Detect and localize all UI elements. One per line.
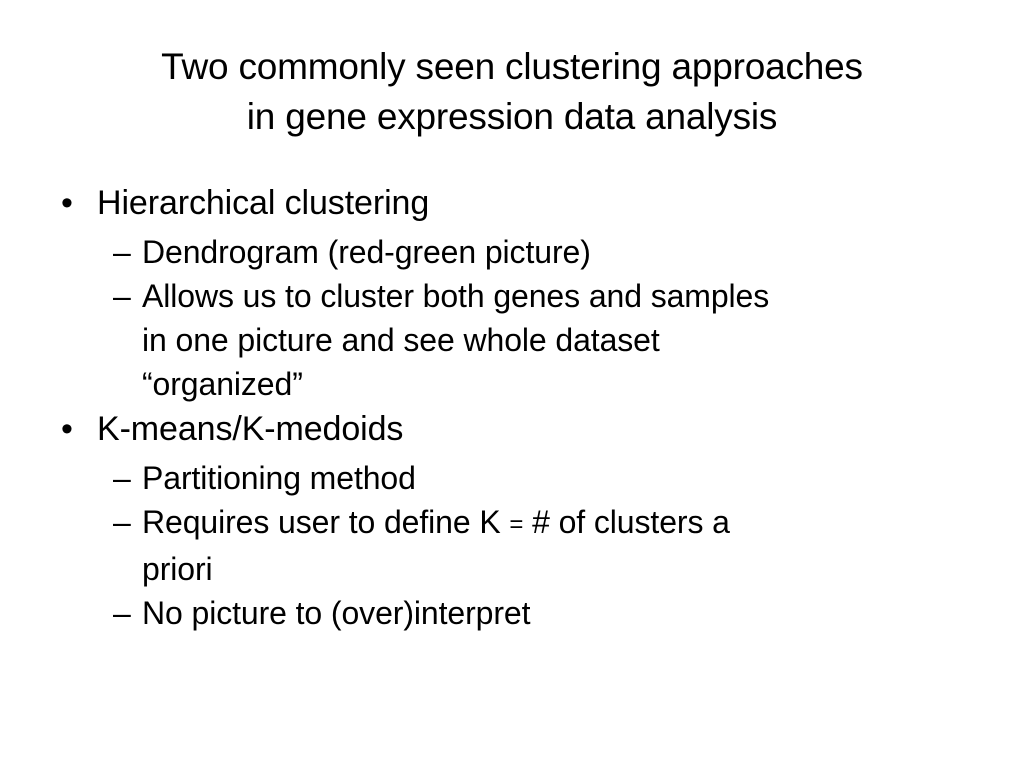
subbullet-text-line-2: priori	[142, 547, 957, 591]
subbullet-partitioning-method: – Partitioning method	[57, 456, 957, 500]
subbullet-text-line-1: Allows us to cluster both genes and samp…	[142, 274, 957, 318]
subbullet-dendrogram: – Dendrogram (red-green picture)	[57, 230, 957, 274]
slide-title: Two commonly seen clustering approaches …	[48, 42, 976, 142]
subbullet-text-line-2: in one picture and see whole dataset	[142, 318, 957, 362]
subbullet-text-line-3: “organized”	[142, 362, 957, 406]
subbullet-requires-user-to-define-k: – Requires user to define K = # of clust…	[57, 500, 957, 591]
subbullet-text-part-1: Requires user to define K	[142, 504, 501, 540]
subbullet-text: No picture to (over)interpret	[142, 591, 957, 635]
dash-icon: –	[113, 274, 131, 318]
subbullet-text: Partitioning method	[142, 456, 957, 500]
dash-icon: –	[113, 230, 131, 274]
bullet-hierarchical-clustering: • Hierarchical clustering	[57, 180, 957, 226]
subbullet-allows-us-to-cluster: – Allows us to cluster both genes and sa…	[57, 274, 957, 406]
bullet-label: Hierarchical clustering	[97, 184, 429, 222]
subbullet-no-picture-to-overinterpret: – No picture to (over)interpret	[57, 591, 957, 635]
title-line-1: Two commonly seen clustering approaches	[48, 42, 976, 92]
slide-canvas: Two commonly seen clustering approaches …	[0, 0, 1024, 768]
slide-body: • Hierarchical clustering – Dendrogram (…	[57, 180, 957, 635]
bullet-dot-icon: •	[61, 180, 73, 226]
bullet-group-hierarchical-clustering: • Hierarchical clustering – Dendrogram (…	[57, 180, 957, 406]
title-line-2: in gene expression data analysis	[48, 92, 976, 142]
subbullet-text-part-2: # of clusters a	[532, 504, 730, 540]
bullet-dot-icon: •	[61, 406, 73, 452]
dash-icon: –	[113, 456, 131, 500]
subbullet-text-line-1: Requires user to define K = # of cluster…	[142, 500, 957, 547]
dash-icon: –	[113, 500, 131, 544]
bullet-group-k-means-k-medoids: • K-means/K-medoids – Partitioning metho…	[57, 406, 957, 635]
bullet-label: K-means/K-medoids	[97, 410, 403, 448]
bullet-k-means-k-medoids: • K-means/K-medoids	[57, 406, 957, 452]
dash-icon: –	[113, 591, 131, 635]
subbullet-text: Dendrogram (red-green picture)	[142, 230, 957, 274]
equals-sign: =	[509, 511, 523, 538]
